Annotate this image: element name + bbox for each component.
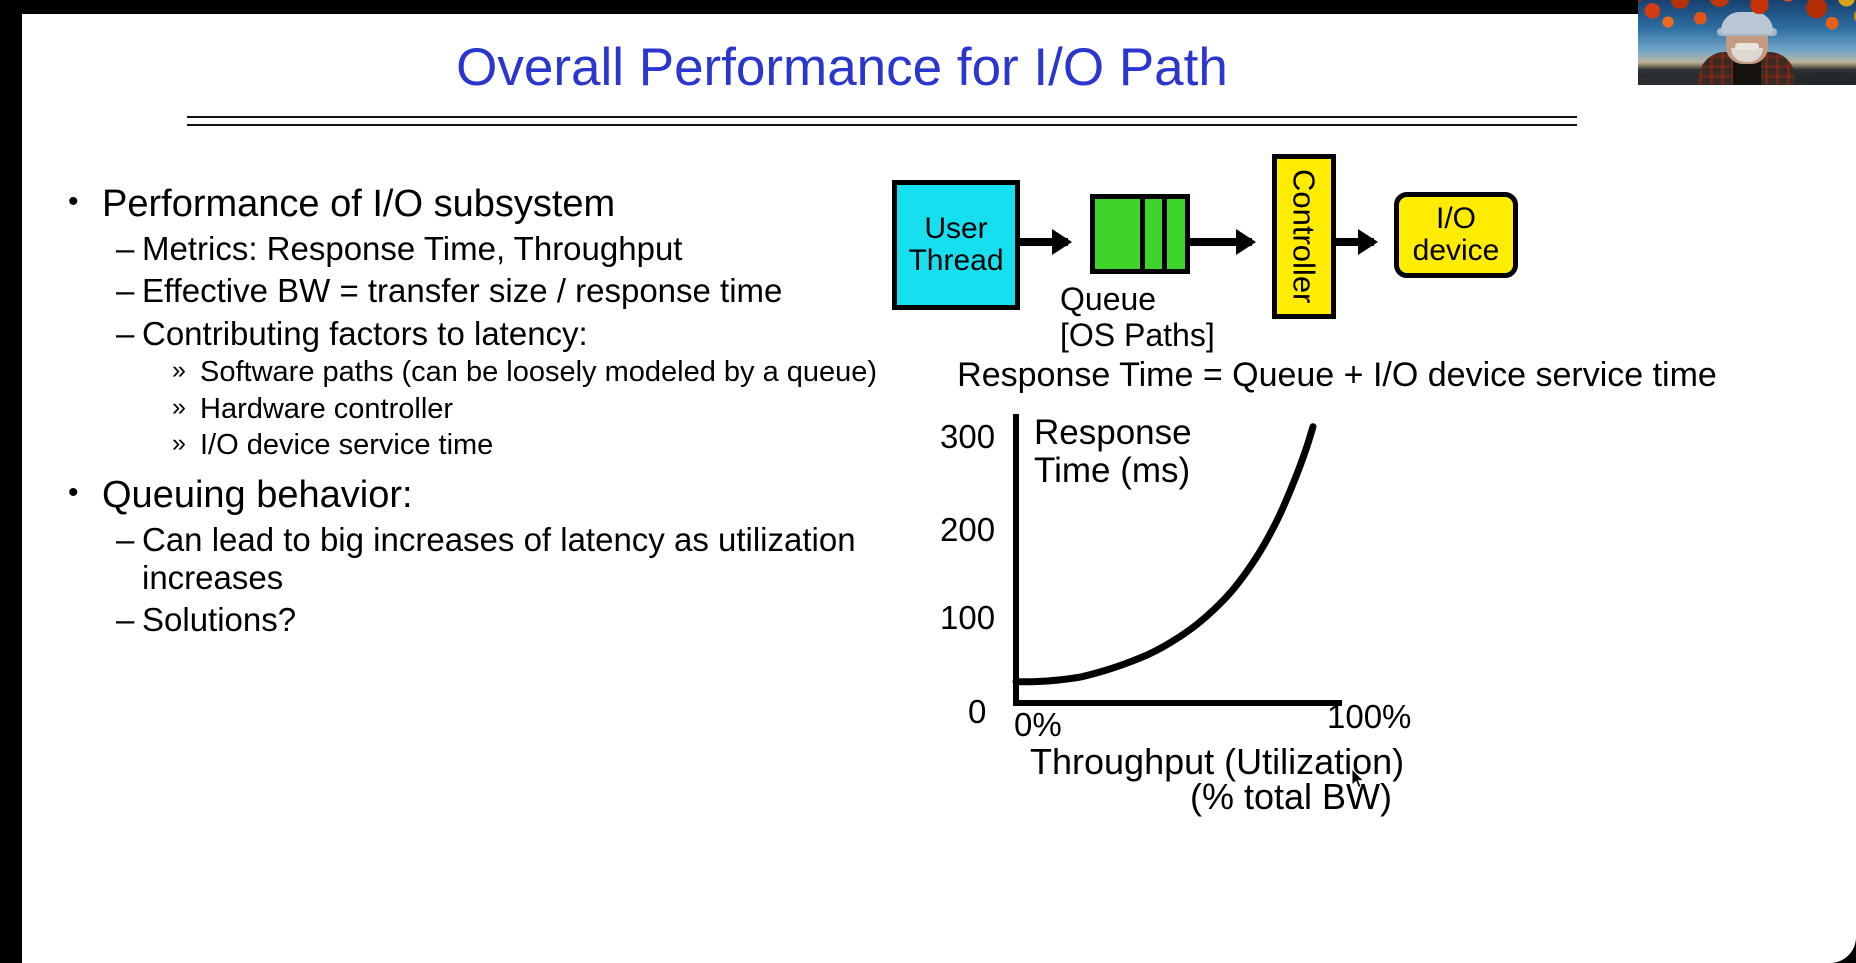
presentation-slide: Overall Performance for I/O Path •Perfor…	[22, 14, 1856, 963]
x-tick-0pct: 0%	[1014, 706, 1062, 744]
y-tick-300: 300	[940, 418, 995, 456]
io-device-line2: device	[1413, 235, 1500, 267]
bullet-marker-icon: »	[172, 429, 200, 458]
bullet-marker-icon: •	[68, 182, 102, 223]
y-tick-200: 200	[940, 511, 995, 549]
page-title: Overall Performance for I/O Path	[22, 40, 1662, 96]
webcam-foliage-left	[1638, 0, 1746, 48]
user-thread-line2: Thread	[908, 245, 1003, 277]
queue-label-line2: [OS Paths]	[1060, 318, 1215, 354]
title-divider	[187, 116, 1577, 126]
controller-label: Controller	[1287, 169, 1320, 303]
response-time-equation: Response Time = Queue + I/O device servi…	[832, 356, 1842, 395]
y-tick-0: 0	[968, 693, 986, 731]
right-column: User Thread Controller I/O device	[832, 144, 1842, 944]
queue-label-line1: Queue	[1060, 282, 1215, 318]
queue-cell	[1162, 199, 1185, 269]
arrow-controller-to-device-icon	[1336, 238, 1374, 246]
y-tick-100: 100	[940, 599, 995, 637]
queue-label: Queue [OS Paths]	[1060, 282, 1215, 354]
y-axis-label-line2: Time (ms)	[1034, 452, 1264, 490]
webcam-bottom-edge	[1638, 85, 1856, 88]
y-axis-label-line1: Response	[1034, 414, 1264, 452]
webcam-overlay[interactable]	[1638, 0, 1856, 88]
x-tick-100pct: 100%	[1327, 698, 1411, 736]
bullet-marker-icon: »	[172, 393, 200, 422]
arrow-queue-to-controller-icon	[1190, 238, 1252, 246]
bullet-marker-icon: –	[116, 230, 142, 268]
io-device-box: I/O device	[1394, 192, 1518, 278]
chart-y-axis-label: Response Time (ms)	[1034, 414, 1264, 490]
screen: Overall Performance for I/O Path •Perfor…	[0, 0, 1856, 963]
user-thread-box: User Thread	[892, 180, 1020, 310]
queue-cell	[1095, 199, 1140, 269]
user-thread-line1: User	[924, 213, 987, 245]
arrow-user-to-queue-icon	[1020, 238, 1068, 246]
queue-box	[1090, 194, 1190, 274]
bullet-marker-icon: –	[116, 601, 142, 639]
chart-x-axis-sublabel: (% total BW)	[1190, 776, 1392, 818]
webcam-foliage-right	[1736, 0, 1856, 54]
response-time-chart: 300 200 100 0 0% 100% Response Time (ms)…	[912, 406, 1552, 846]
controller-box: Controller	[1272, 154, 1336, 319]
bullet-marker-icon: –	[116, 272, 142, 310]
bullet-marker-icon: –	[116, 521, 142, 559]
bullet-marker-icon: •	[68, 473, 102, 514]
io-device-line1: I/O	[1436, 203, 1476, 235]
queue-cell	[1140, 199, 1162, 269]
bullet-marker-icon: –	[116, 315, 142, 353]
io-path-diagram: User Thread Controller I/O device	[832, 144, 1842, 359]
bullet-marker-icon: »	[172, 356, 200, 385]
